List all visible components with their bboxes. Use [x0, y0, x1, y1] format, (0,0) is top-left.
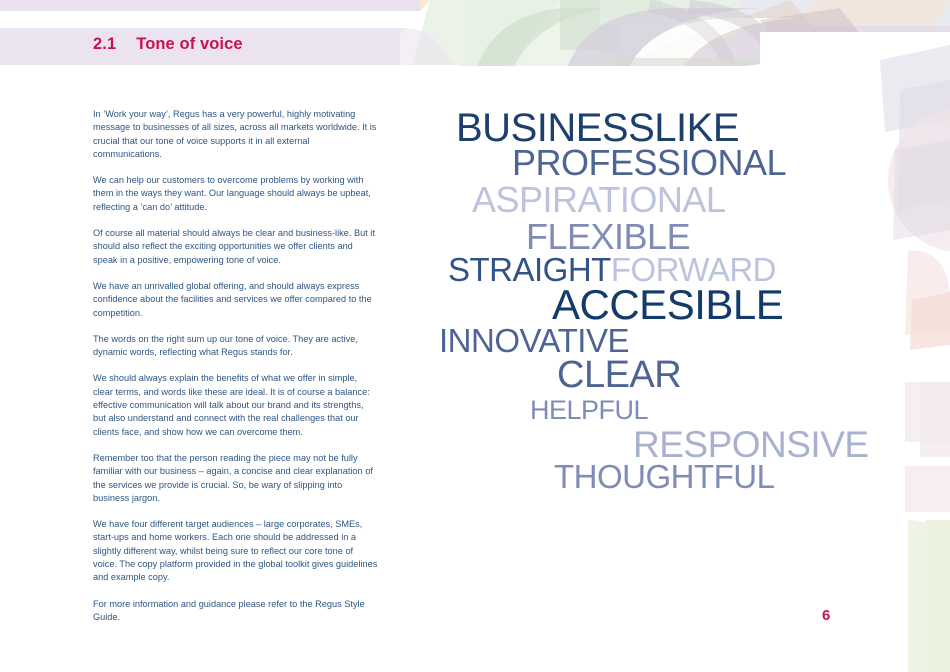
document-page: 2.1Tone of voice In ‘Work your way’, Reg… [0, 0, 950, 672]
paragraph: Remember too that the person reading the… [93, 452, 378, 505]
paragraph: Of course all material should always be … [93, 227, 378, 267]
word-cloud-line: CLEAR [557, 356, 681, 394]
word-cloud-line: ASPIRATIONAL [472, 182, 725, 218]
page-number: 6 [822, 607, 830, 624]
paragraph: The words on the right sum up our tone o… [93, 333, 378, 360]
word-cloud-word: ACCESIBLE [552, 281, 783, 328]
section-number: 2.1 [93, 35, 116, 53]
word-cloud-line: INNOVATIVE [439, 324, 629, 357]
paragraph: We should always explain the benefits of… [93, 372, 378, 438]
paragraph: For more information and guidance please… [93, 598, 378, 625]
word-cloud-word: THOUGHTFUL [554, 458, 775, 495]
word-cloud-line: PROFESSIONAL [512, 145, 786, 181]
paragraph: In ‘Work your way’, Regus has a very pow… [93, 108, 378, 161]
word-cloud-word: PROFESSIONAL [512, 142, 786, 183]
tone-of-voice-word-cloud: BUSINESSLIKEPROFESSIONALASPIRATIONALFLEX… [430, 100, 900, 520]
body-copy-column: In ‘Work your way’, Regus has a very pow… [93, 108, 378, 624]
section-title: Tone of voice [136, 35, 242, 53]
paragraph: We have an unrivalled global offering, a… [93, 280, 378, 320]
paragraph: We have four different target audiences … [93, 518, 378, 584]
word-cloud-word: ASPIRATIONAL [472, 179, 725, 220]
word-cloud-line: THOUGHTFUL [554, 460, 775, 493]
word-cloud-word: CLEAR [557, 354, 681, 396]
paragraph: We can help our customers to overcome pr… [93, 174, 378, 214]
word-cloud-line: HELPFUL [530, 397, 648, 424]
word-cloud-line: ACCESIBLE [552, 284, 783, 326]
page-title: 2.1Tone of voice [93, 35, 243, 54]
word-cloud-line: FLEXIBLE [526, 219, 690, 255]
page-header: 2.1Tone of voice [0, 0, 950, 70]
word-cloud-word: HELPFUL [530, 395, 648, 425]
